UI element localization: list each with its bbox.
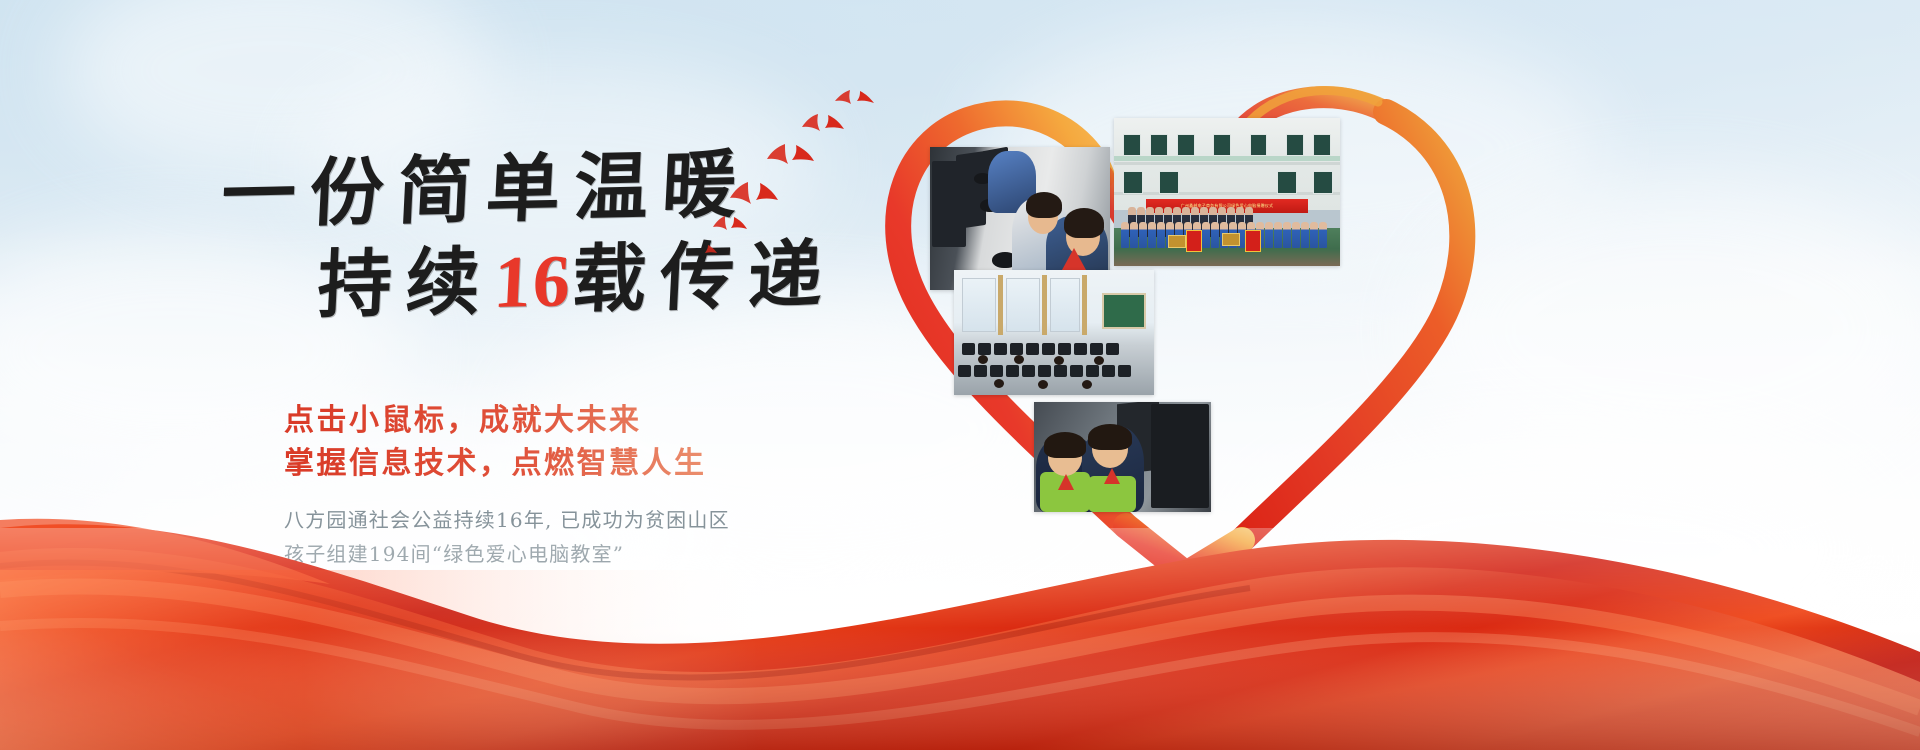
vignette-overlay: [0, 0, 1920, 750]
charity-banner: 一份简单温暖 持续16载传递 点击小鼠标，成就大未来 掌握信息技术，点燃智慧人生…: [0, 0, 1920, 750]
